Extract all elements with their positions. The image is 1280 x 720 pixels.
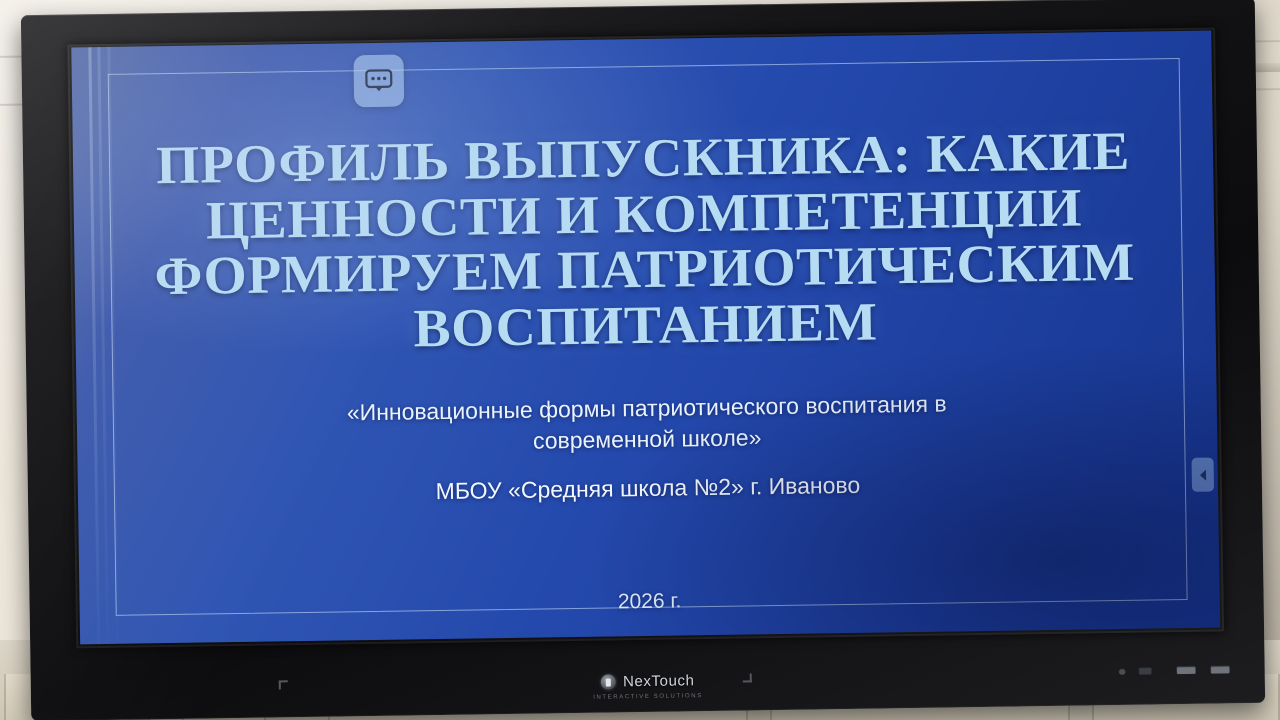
chevron-left-icon: [1197, 468, 1208, 481]
display-screen[interactable]: ПРОФИЛЬ ВЫПУСКНИКА: КАКИЕ ЦЕННОСТИ И КОМ…: [71, 31, 1220, 645]
slide-subtitle: «Инновационные формы патриотического вос…: [277, 388, 1018, 461]
slide-organization: МБОУ «Средняя школа №2» г. Иваново: [435, 472, 860, 505]
bezel-port: [1211, 665, 1230, 673]
slide-year: 2026 г.: [618, 590, 682, 615]
scene: ПРОФИЛЬ ВЫПУСКНИКА: КАКИЕ ЦЕННОСТИ И КОМ…: [0, 0, 1280, 720]
slide-content: ПРОФИЛЬ ВЫПУСКНИКА: КАКИЕ ЦЕННОСТИ И КОМ…: [71, 31, 1220, 645]
bezel-indicator-led: [1119, 668, 1126, 675]
side-panel-handle[interactable]: [1192, 458, 1215, 492]
slide-title: ПРОФИЛЬ ВЫПУСКНИКА: КАКИЕ ЦЕННОСТИ И КОМ…: [126, 123, 1163, 361]
chat-bubble-dots-icon: [365, 69, 393, 93]
bezel-port: [1139, 666, 1152, 674]
interactive-display-panel: ПРОФИЛЬ ВЫПУСКНИКА: КАКИЕ ЦЕННОСТИ И КОМ…: [21, 0, 1265, 720]
bezel-corner-mark: [279, 680, 288, 689]
chat-bubble-button[interactable]: [353, 55, 404, 108]
bezel-port: [1177, 666, 1196, 674]
title-divider: [246, 369, 1046, 381]
bezel-corner-mark: [743, 673, 752, 682]
